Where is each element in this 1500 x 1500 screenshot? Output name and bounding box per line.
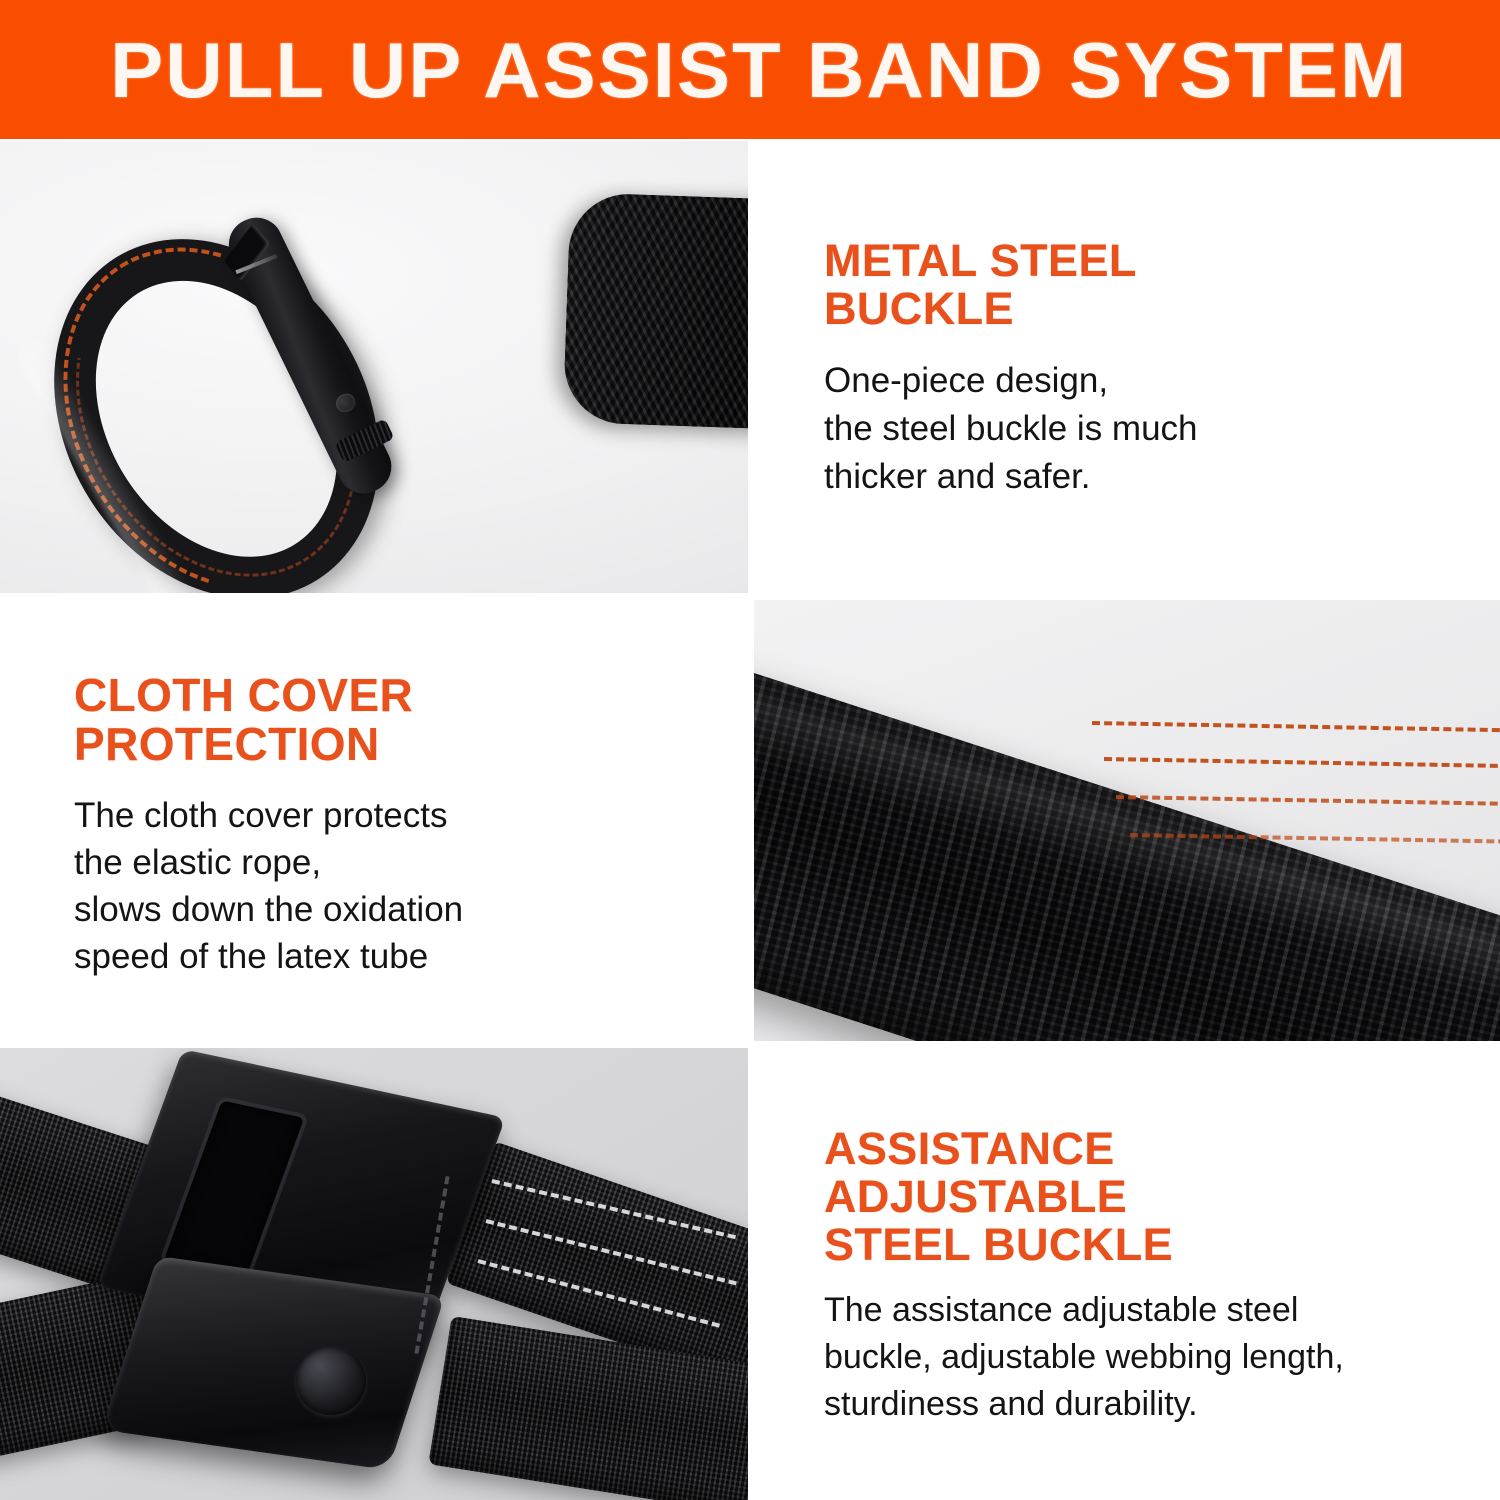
feature-text-cloth-cover-protection: CLOTH COVER PROTECTION The cloth cover p… — [0, 599, 748, 1041]
cam-buckle-photo — [0, 1047, 748, 1500]
cloth-cover-protection-body: The cloth cover protects the elastic rop… — [74, 793, 463, 981]
infographic-page: PULL UP ASSIST BAND SYSTEM METAL STEEL — [0, 0, 1500, 1500]
carabiner-graphic — [0, 141, 641, 593]
page-title: PULL UP ASSIST BAND SYSTEM — [0, 31, 1408, 109]
assistance-adjustable-steel-buckle-body: The assistance adjustable steel buckle, … — [824, 1287, 1344, 1428]
heading-line: ASSISTANCE — [824, 1125, 1344, 1173]
heading-line: ADJUSTABLE — [824, 1173, 1344, 1221]
cloth-cover-protection-heading: CLOTH COVER PROTECTION — [74, 671, 463, 769]
feature-image-assistance-adjustable-steel-buckle — [0, 1047, 748, 1500]
body-line: the steel buckle is much — [824, 405, 1198, 453]
body-line: slows down the oxidation — [74, 887, 463, 934]
cloth-cover-protection-block: CLOTH COVER PROTECTION The cloth cover p… — [74, 671, 463, 981]
header-banner: PULL UP ASSIST BAND SYSTEM — [0, 0, 1500, 139]
cloth-sleeve-photo — [752, 599, 1500, 1041]
metal-steel-buckle-block: METAL STEEL BUCKLE One-piece design, the… — [824, 237, 1198, 501]
metal-steel-buckle-heading: METAL STEEL BUCKLE — [824, 237, 1198, 333]
cam-buckle-release-button-icon — [296, 1347, 366, 1415]
heading-line: BUCKLE — [824, 285, 1198, 333]
body-line: thicker and safer. — [824, 453, 1198, 501]
orange-stitch-line-icon — [1104, 757, 1500, 769]
cam-buckle-lever-icon — [101, 1256, 445, 1470]
feature-text-assistance-adjustable-steel-buckle: ASSISTANCE ADJUSTABLE STEEL BUCKLE The a… — [752, 1047, 1500, 1500]
assistance-adjustable-steel-buckle-heading: ASSISTANCE ADJUSTABLE STEEL BUCKLE — [824, 1125, 1344, 1269]
feature-text-metal-steel-buckle: METAL STEEL BUCKLE One-piece design, the… — [752, 141, 1500, 593]
body-line: The cloth cover protects — [74, 793, 463, 840]
grid-gutter-horizontal — [0, 1041, 1500, 1048]
assistance-adjustable-steel-buckle-block: ASSISTANCE ADJUSTABLE STEEL BUCKLE The a… — [824, 1125, 1344, 1428]
feature-image-metal-steel-buckle — [0, 141, 752, 593]
orange-stitch-line-icon — [1116, 795, 1500, 807]
carabiner-photo — [0, 141, 752, 593]
heading-line: PROTECTION — [74, 720, 463, 769]
body-line: buckle, adjustable webbing length, — [824, 1334, 1344, 1381]
body-line: the elastic rope, — [74, 840, 463, 887]
body-line: sturdiness and durability. — [824, 1381, 1344, 1428]
grid-gutter-horizontal — [0, 593, 1500, 600]
feature-image-cloth-cover-protection — [752, 599, 1500, 1041]
woven-rope-graphic — [752, 648, 1500, 1041]
body-line: The assistance adjustable steel — [824, 1287, 1344, 1334]
body-line: One-piece design, — [824, 357, 1198, 405]
heading-line: CLOTH COVER — [74, 671, 463, 720]
heading-line: STEEL BUCKLE — [824, 1221, 1344, 1269]
orange-stitch-line-icon — [1092, 721, 1500, 732]
fabric-sleeve-graphic — [563, 192, 752, 433]
metal-steel-buckle-body: One-piece design, the steel buckle is mu… — [824, 357, 1198, 501]
heading-line: METAL STEEL — [824, 237, 1198, 285]
grid-gutter-vertical — [748, 139, 754, 1500]
body-line: speed of the latex tube — [74, 934, 463, 981]
